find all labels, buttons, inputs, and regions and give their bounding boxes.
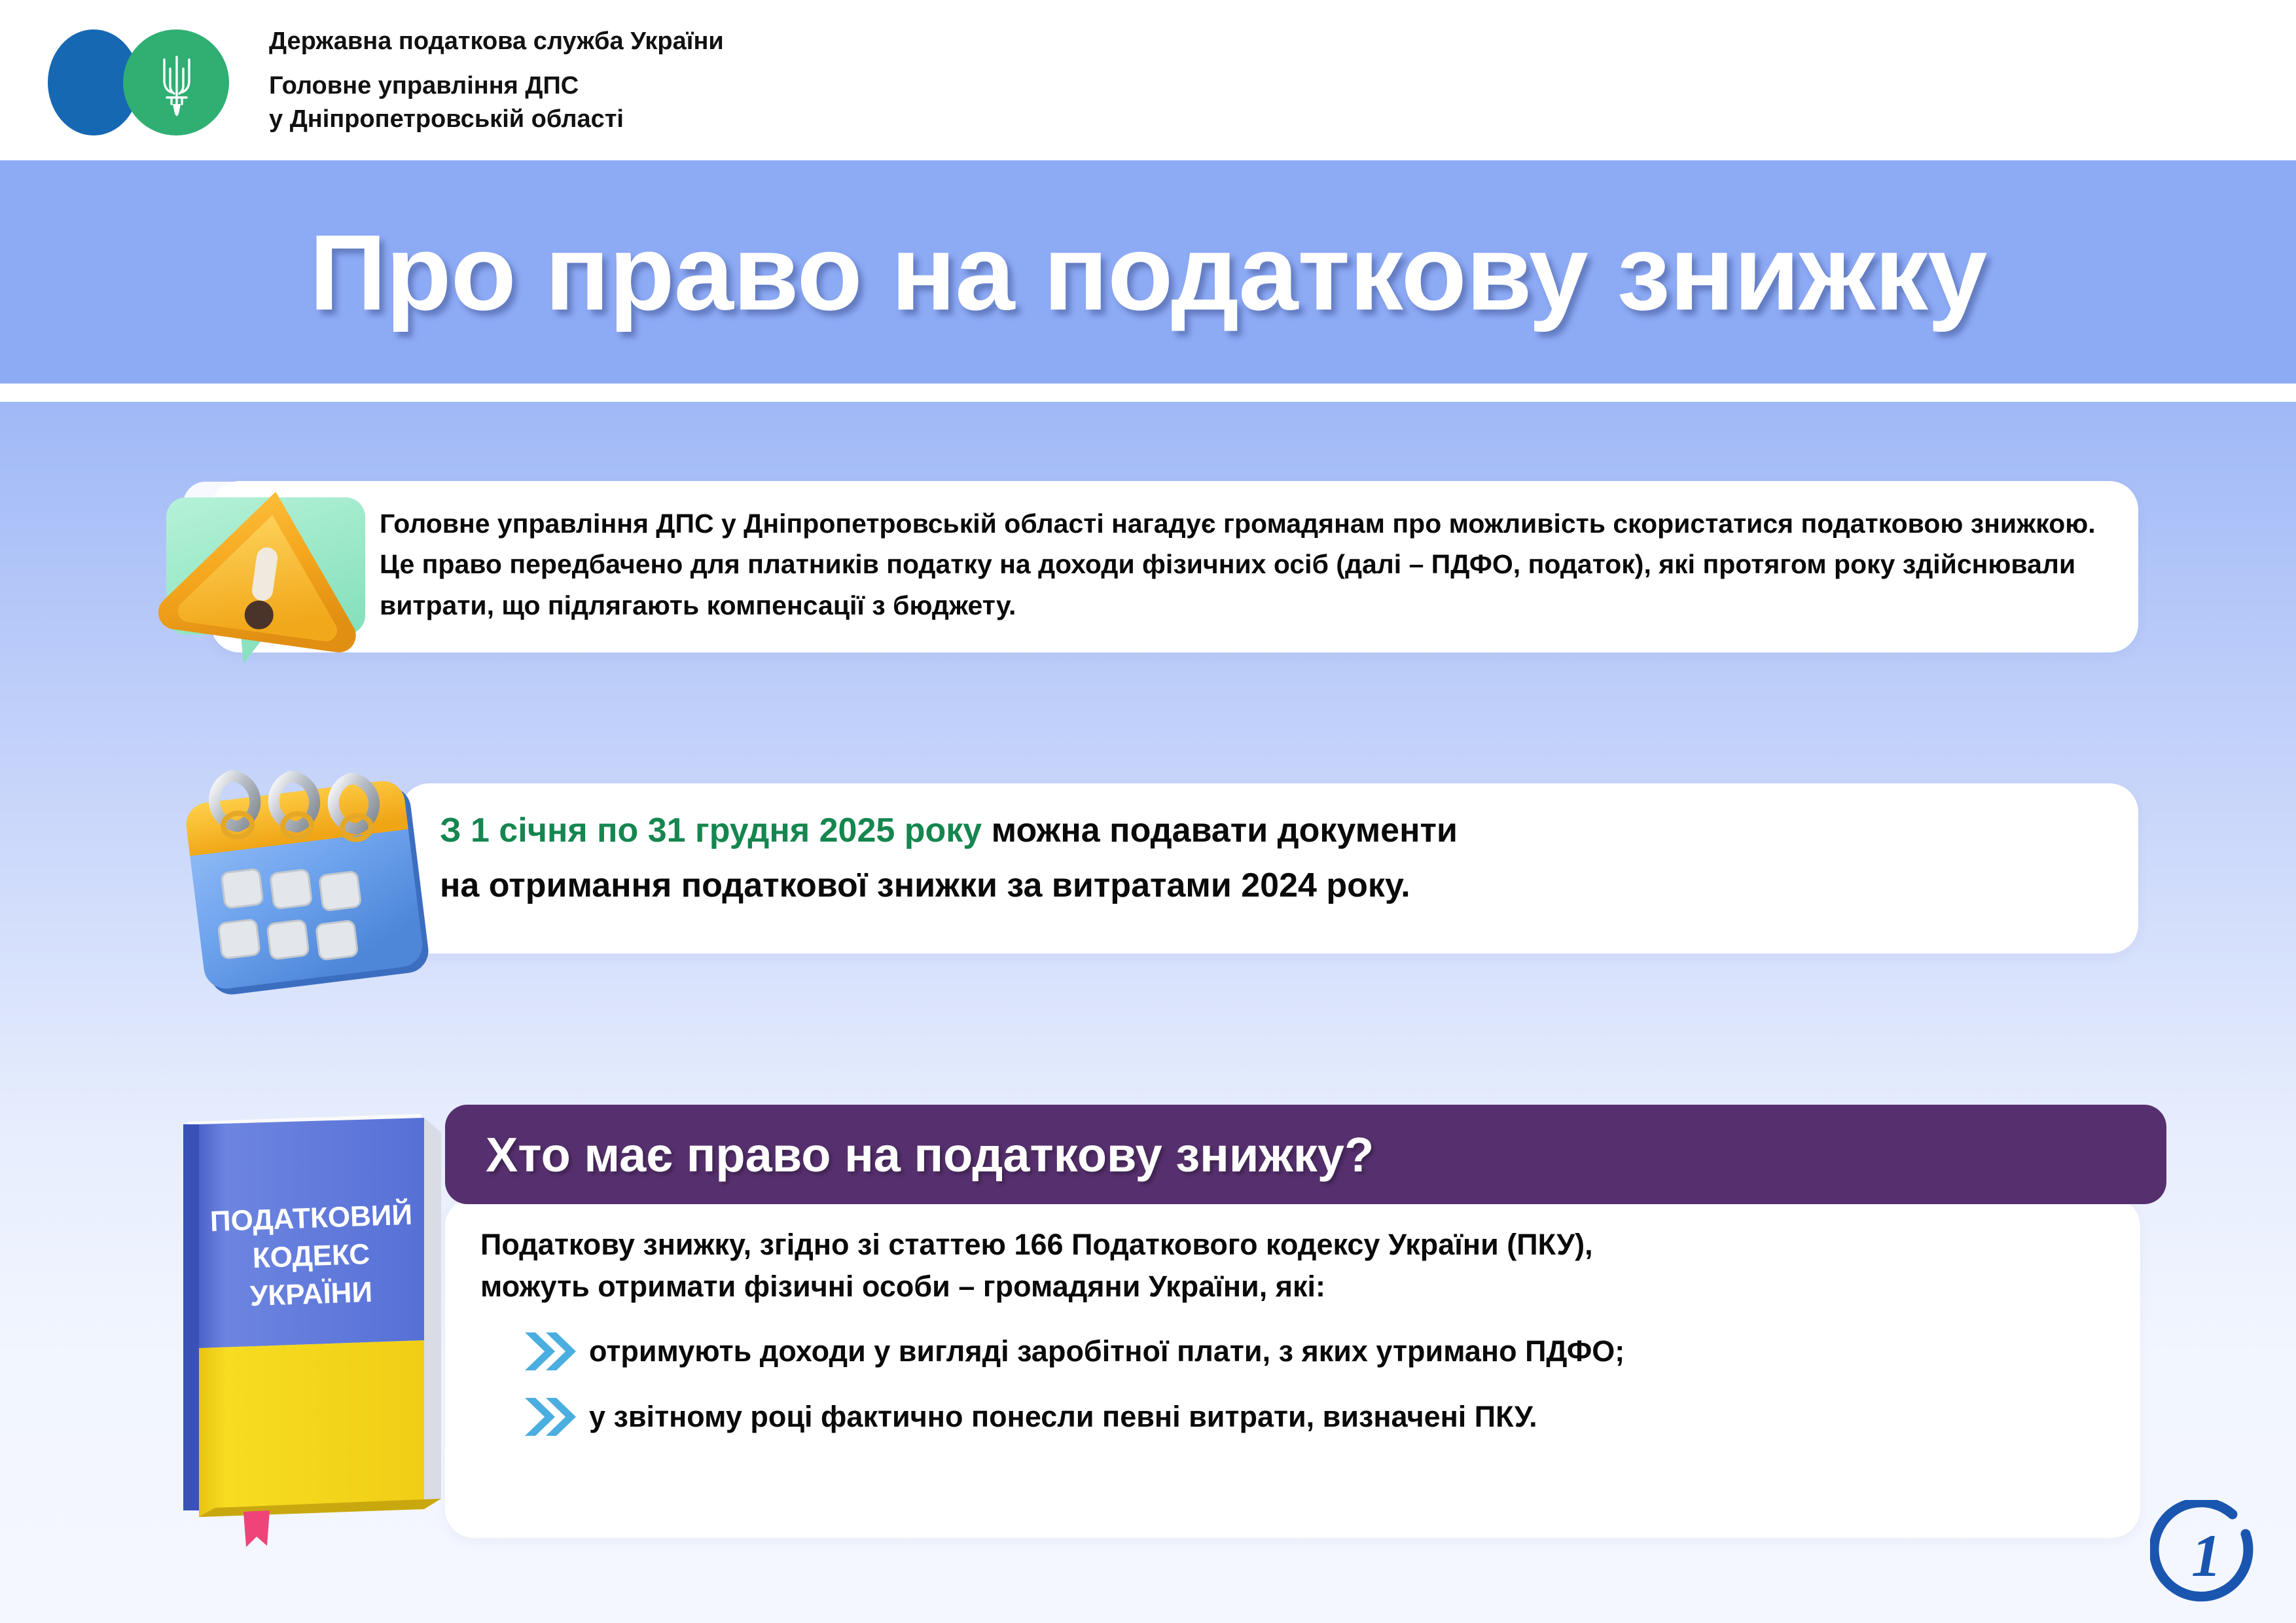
org-main-name: Державна податкова служба України [269,25,724,58]
title-underline-stripe [0,383,2296,402]
who-lead-line2: можуть отримати фізичні особи – громадян… [480,1266,2105,1308]
notice-card: Головне управління ДПС у Дніпропетровськ… [211,481,2138,652]
org-names: Державна податкова служба України Головн… [269,25,724,135]
who-header-text: Хто має право на податкову знижку? [486,1127,1374,1183]
bullet-text: у звітному році фактично понесли певні в… [589,1400,1537,1434]
tax-code-book-icon: ПОДАТКОВИЙ КОДЕКС УКРАЇНИ [164,1106,471,1558]
ukraine-trident-icon [157,49,196,118]
list-item: отримують доходи у вигляді заробітної пл… [480,1330,2105,1373]
org-sub-name-line1: Головне управління ДПС [269,69,724,102]
bullet-text: отримують доходи у вигляді заробітної пл… [589,1334,1624,1368]
dps-logo [36,15,252,146]
svg-text:УКРАЇНИ: УКРАЇНИ [249,1276,373,1312]
title-banner: Про право на податкову знижку [0,162,2296,383]
date-line-1-rest: можна подавати документи [982,811,1458,849]
date-card: З 1 січня по 31 грудня 2025 року можна п… [401,783,2138,954]
notice-text: Головне управління ДПС у Дніпропетровськ… [380,503,2102,626]
warning-speech-bubble-icon [152,476,368,686]
double-chevron-icon [521,1395,577,1438]
who-header-bar: Хто має право на податкову знижку? [445,1105,2166,1204]
org-sub-name-line2: у Дніпропетровській області [269,103,724,135]
date-line-2: на отримання податкової знижки за витрат… [440,858,2104,913]
double-chevron-icon [521,1330,577,1373]
page-number-badge: 1 [2150,1500,2263,1610]
who-lead-line1: Податкову знижку, згідно зі статтею 166 … [480,1224,2105,1266]
page-number: 1 [2191,1522,2221,1589]
svg-text:КОДЕКС: КОДЕКС [252,1238,370,1274]
calendar-icon [171,728,446,1003]
who-card: Податкову знижку, згідно зі статтею 166 … [445,1198,2140,1538]
date-highlight: З 1 січня по 31 грудня 2025 року [440,811,982,849]
page-title: Про право на податкову знижку [310,211,1987,334]
list-item: у звітному році фактично понесли певні в… [480,1395,2105,1438]
header: Державна податкова служба України Головн… [0,0,2296,160]
date-line-1: З 1 січня по 31 грудня 2025 року можна п… [440,803,2104,858]
